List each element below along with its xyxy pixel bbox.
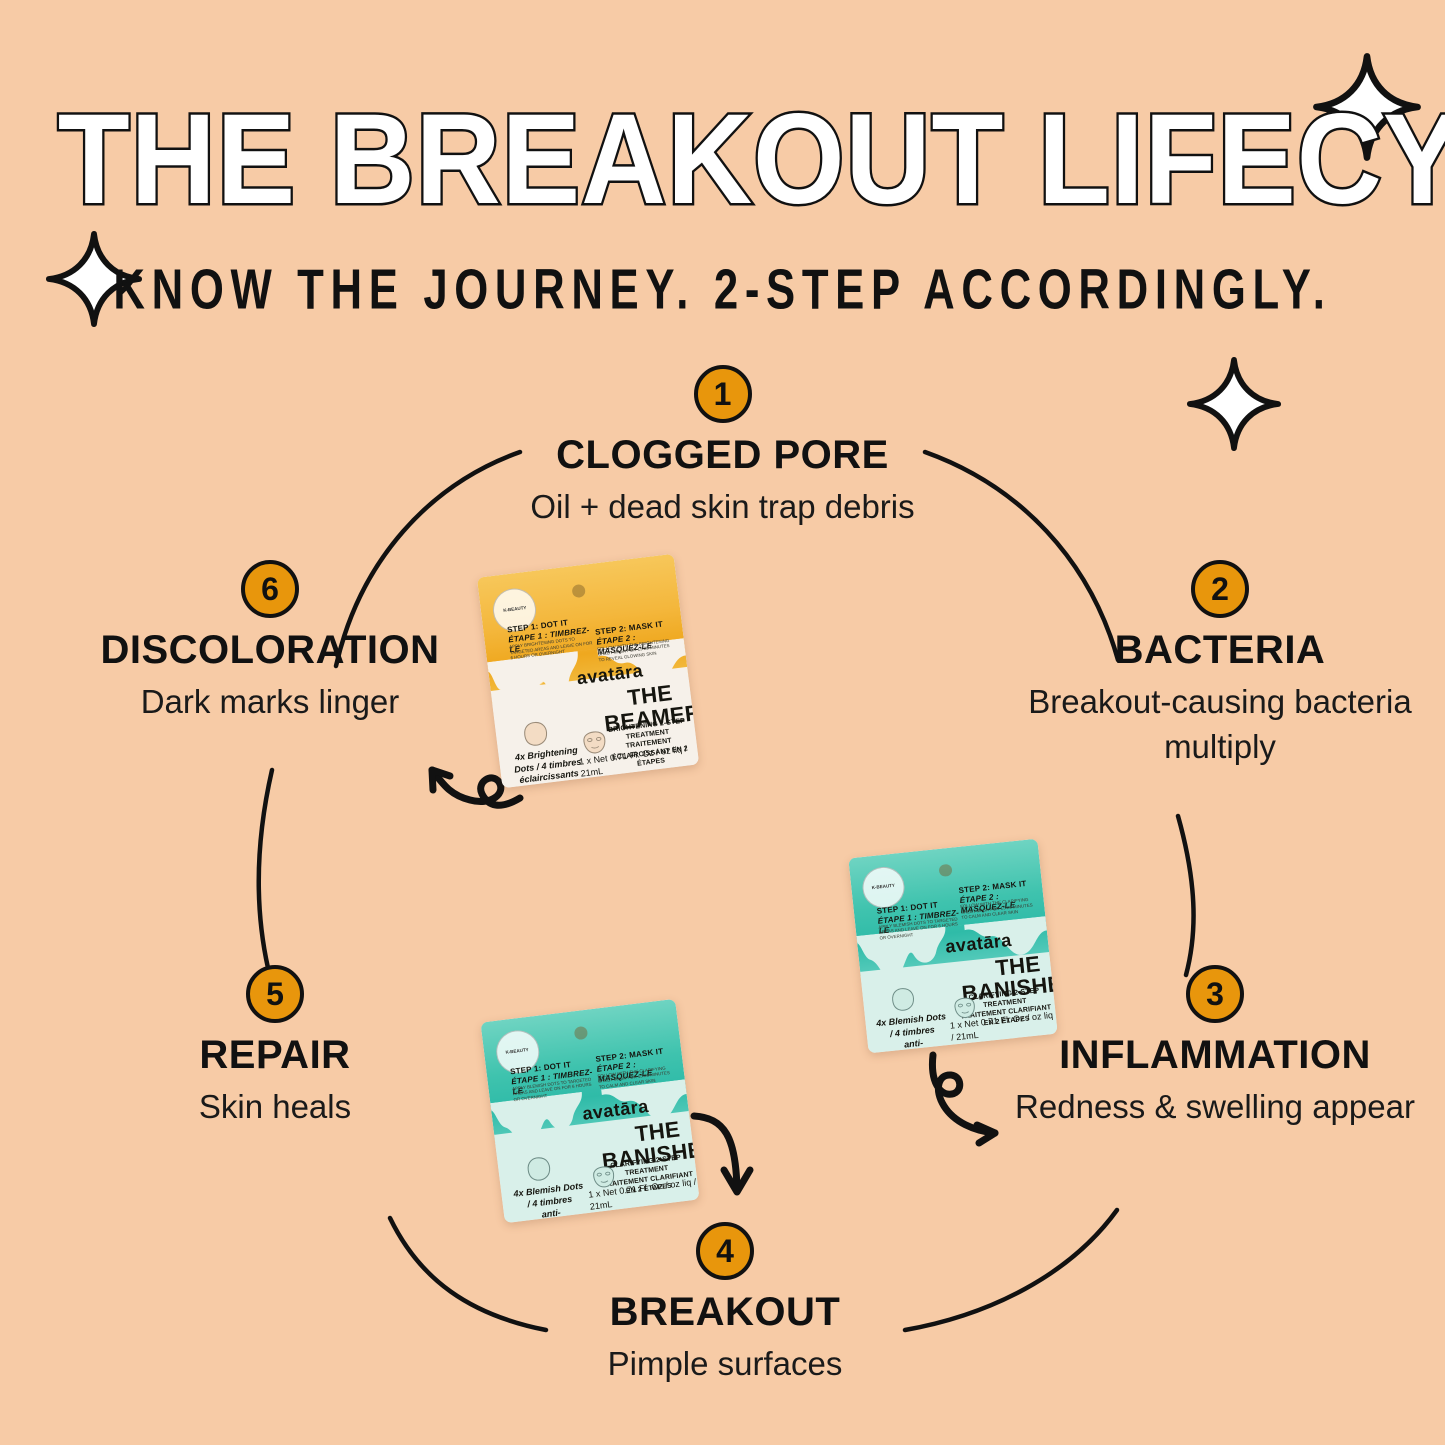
step-title-4: BREAKOUT bbox=[490, 1290, 960, 1334]
step-badge-2: 2 bbox=[1191, 560, 1249, 618]
product-packet-the-banisher-left[interactable]: K-BEAUTY STEP 1: DOT IT ÉTAPE 1 : TIMBRE… bbox=[480, 999, 699, 1223]
step-badge-3: 3 bbox=[1186, 965, 1244, 1023]
curly-arrow-right-icon bbox=[932, 1055, 995, 1143]
step-badge-1: 1 bbox=[694, 365, 752, 423]
cycle-step-bacteria[interactable]: 2 BACTERIA Breakout-causing bacteria mul… bbox=[1010, 560, 1430, 769]
dot-patch-icon bbox=[887, 985, 918, 1013]
k-beauty-seal-label: K-BEAUTY bbox=[506, 1048, 530, 1056]
step-desc-5: Skin heals bbox=[130, 1085, 420, 1130]
step-desc-6: Dark marks linger bbox=[60, 680, 480, 725]
product-packet-the-banisher-right[interactable]: K-BEAUTY STEP 1: DOT IT ÉTAPE 1 : TIMBRE… bbox=[848, 839, 1057, 1054]
cycle-step-inflammation[interactable]: 3 INFLAMMATION Redness & swelling appear bbox=[1000, 965, 1430, 1130]
step-title-3: INFLAMMATION bbox=[1000, 1033, 1430, 1077]
cycle-step-discoloration[interactable]: 6 DISCOLORATION Dark marks linger bbox=[60, 560, 480, 725]
infographic-canvas: THE BREAKOUT LIFECYCLE KNOW THE JOURNEY.… bbox=[0, 0, 1445, 1445]
step-desc-1: Oil + dead skin trap debris bbox=[473, 485, 973, 530]
step-desc-3: Redness & swelling appear bbox=[1000, 1085, 1430, 1130]
packet-dots-line2: / 4 timbres bbox=[889, 1024, 935, 1039]
step-badge-6: 6 bbox=[241, 560, 299, 618]
step-badge-4: 4 bbox=[696, 1222, 754, 1280]
k-beauty-seal-label: K-BEAUTY bbox=[503, 606, 527, 614]
page-title: THE BREAKOUT LIFECYCLE bbox=[58, 96, 1387, 224]
step-badge-5: 5 bbox=[246, 965, 304, 1023]
step-desc-4: Pimple surfaces bbox=[490, 1342, 960, 1387]
dot-patch-icon bbox=[523, 1154, 555, 1184]
dot-patch-icon bbox=[518, 719, 551, 750]
cycle-step-clogged-pore[interactable]: 1 CLOGGED PORE Oil + dead skin trap debr… bbox=[473, 365, 973, 530]
k-beauty-seal-label: K-BEAUTY bbox=[872, 884, 896, 891]
sparkle-icon-mid-right bbox=[1186, 356, 1282, 452]
step-title-5: REPAIR bbox=[130, 1033, 420, 1077]
step-title-6: DISCOLORATION bbox=[60, 628, 480, 672]
curved-arrow-down-icon bbox=[694, 1116, 750, 1192]
product-packet-the-beamer[interactable]: K-BEAUTY STEP 1: DOT IT ÉTAPE 1 : TIMBRE… bbox=[477, 554, 699, 789]
step-title-1: CLOGGED PORE bbox=[473, 433, 973, 477]
cycle-step-repair[interactable]: 5 REPAIR Skin heals bbox=[130, 965, 420, 1130]
step-desc-2: Breakout-causing bacteria multiply bbox=[1010, 680, 1430, 769]
page-subtitle: KNOW THE JOURNEY. 2-STEP ACCORDINGLY. bbox=[36, 256, 1409, 322]
step-title-2: BACTERIA bbox=[1010, 628, 1430, 672]
cycle-step-breakout[interactable]: 4 BREAKOUT Pimple surfaces bbox=[490, 1222, 960, 1387]
